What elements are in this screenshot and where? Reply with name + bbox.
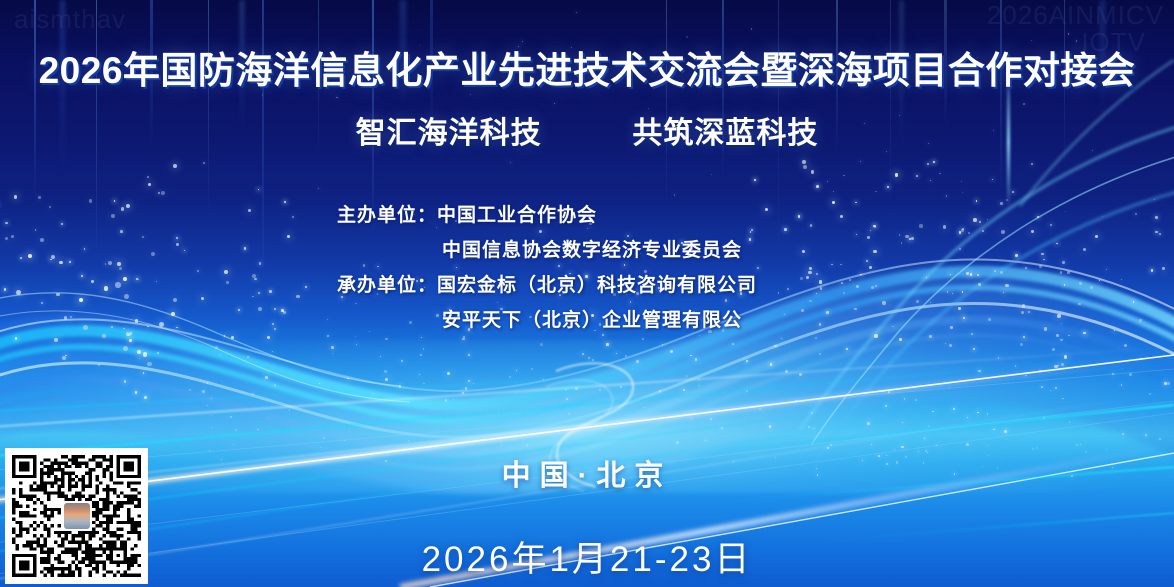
organizer-line-2: 中国信息协会数字经济专业委员会: [337, 233, 757, 268]
qr-code[interactable]: [12, 455, 141, 577]
qr-center-logo: [62, 501, 92, 531]
conference-poster: aismthav 2026AINMICV IOTV 2026年国防海洋信息化产业…: [0, 0, 1174, 587]
host-name-2: 中国信息协会数字经济专业委员会: [442, 240, 742, 261]
subtitle-right: 共筑深蓝科技: [632, 117, 818, 150]
poster-content: 2026年国防海洋信息化产业先进技术交流会暨深海项目合作对接会 智汇海洋科技 共…: [0, 0, 1174, 587]
organizer-block: 主办单位：中国工业合作协会 中国信息协会数字经济专业委员会 承办单位：国宏金标（…: [337, 198, 757, 338]
poster-title: 2026年国防海洋信息化产业先进技术交流会暨深海项目合作对接会: [0, 40, 1174, 94]
organizer-name-1: 国宏金标（北京）科技咨询有限公司: [437, 275, 757, 296]
qr-code-panel[interactable]: [5, 448, 148, 584]
subtitle-left: 智汇海洋科技: [356, 117, 542, 150]
organizer-line-4: 安平天下（北京）企业管理有限公: [337, 303, 757, 338]
event-location: 中国·北京: [0, 452, 1174, 494]
organizer-name-2: 安平天下（北京）企业管理有限公: [442, 310, 742, 331]
host-name-1: 中国工业合作协会: [437, 205, 597, 226]
organizer-label: 承办单位：: [337, 275, 437, 296]
host-label: 主办单位：: [337, 205, 437, 226]
organizer-line-3: 承办单位：国宏金标（北京）科技咨询有限公司: [337, 268, 757, 303]
event-date: 2026年1月21-23日: [0, 531, 1174, 582]
poster-subtitle: 智汇海洋科技 共筑深蓝科技: [0, 108, 1174, 152]
organizer-line-1: 主办单位：中国工业合作协会: [337, 198, 757, 233]
